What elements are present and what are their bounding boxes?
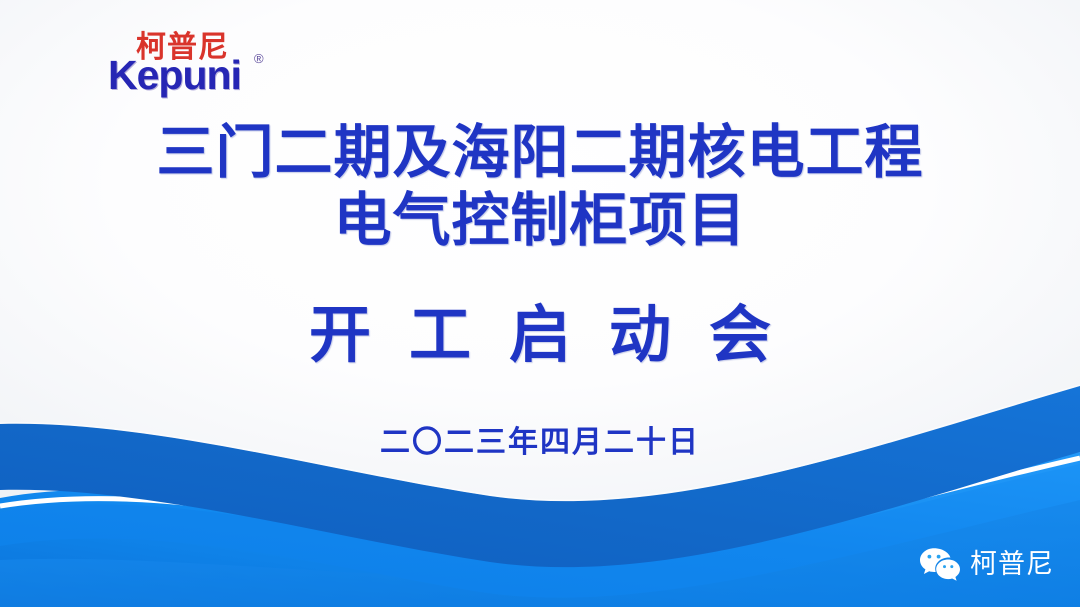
logo-english-name: Kepuni [108,55,241,96]
page-title: 三门二期及海阳二期核电工程 电气控制柜项目 [0,118,1080,255]
title-line-2: 电气控制柜项目 [0,186,1080,254]
event-subtitle: 开工启动会 [0,304,1080,366]
kickoff-banner: 柯普尼 ® Kepuni 三门二期及海阳二期核电工程 电气控制柜项目 开工启动会… [0,0,1080,607]
title-line-1: 三门二期及海阳二期核电工程 [0,118,1080,186]
wechat-account-mark: 柯普尼 [919,543,1054,585]
wechat-icon [919,547,961,582]
registered-trademark-icon: ® [254,52,264,65]
event-date: 二〇二三年四月二十日 [0,428,1080,458]
company-logo: 柯普尼 ® Kepuni [108,33,298,105]
wechat-account-name: 柯普尼 [970,551,1054,578]
